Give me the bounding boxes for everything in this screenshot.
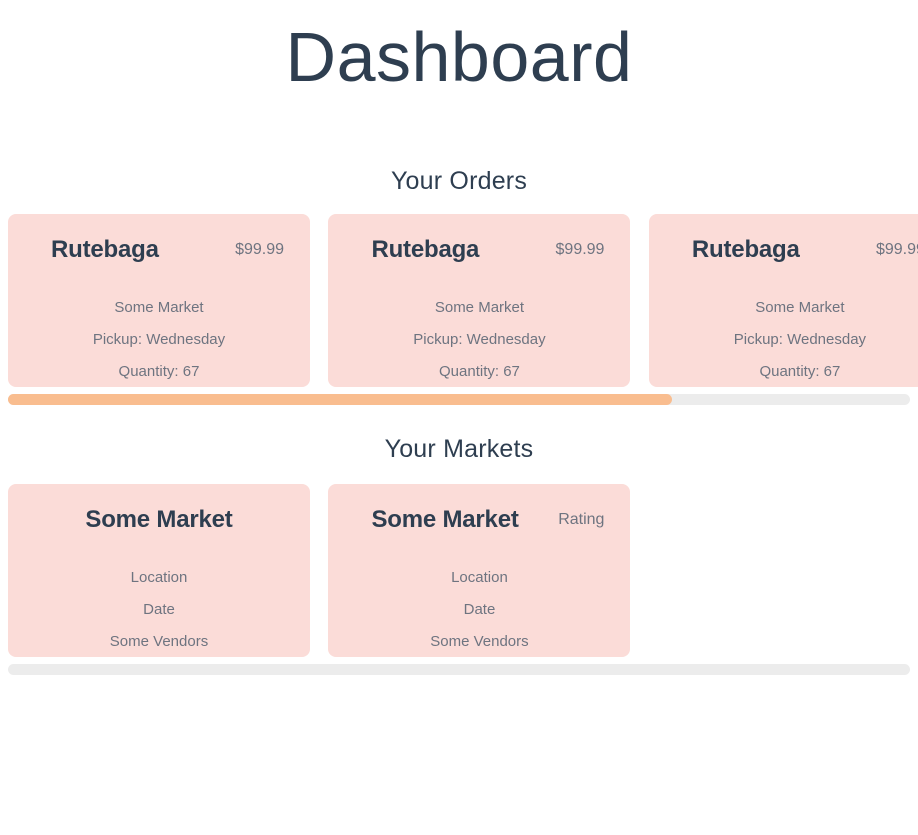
orders-scrollbar-thumb[interactable] [8, 394, 672, 405]
orders-card-row[interactable]: Rutebaga $99.99 Some Market Pickup: Wedn… [8, 214, 918, 387]
order-market: Some Market [649, 292, 918, 324]
market-rating: Rating [558, 511, 604, 529]
market-details: Location Date Some Vendors [328, 562, 630, 657]
markets-scrollbar-track[interactable] [8, 664, 910, 675]
order-pickup: Pickup: Wednesday [328, 324, 630, 356]
order-quantity: Quantity: 67 [8, 356, 310, 387]
markets-card-row[interactable]: Some Market Location Date Some Vendors S… [8, 484, 918, 657]
order-card-header: Rutebaga $99.99 [649, 233, 918, 267]
market-location: Location [328, 562, 630, 594]
dashboard-page: Dashboard Your Orders Rutebaga $99.99 So… [0, 0, 918, 835]
order-details: Some Market Pickup: Wednesday Quantity: … [649, 292, 918, 387]
order-details: Some Market Pickup: Wednesday Quantity: … [328, 292, 630, 387]
order-price: $99.99 [556, 241, 605, 259]
market-card[interactable]: Some Market Rating Location Date Some Ve… [328, 484, 630, 657]
market-location: Location [8, 562, 310, 594]
order-market: Some Market [328, 292, 630, 324]
order-card[interactable]: Rutebaga $99.99 Some Market Pickup: Wedn… [328, 214, 630, 387]
orders-scrollbar-track[interactable] [8, 394, 910, 405]
market-vendors: Some Vendors [8, 626, 310, 657]
order-details: Some Market Pickup: Wednesday Quantity: … [8, 292, 310, 387]
order-title: Rutebaga [371, 236, 479, 264]
order-title: Rutebaga [692, 236, 800, 264]
market-date: Date [8, 594, 310, 626]
order-quantity: Quantity: 67 [649, 356, 918, 387]
order-pickup: Pickup: Wednesday [649, 324, 918, 356]
market-vendors: Some Vendors [328, 626, 630, 657]
market-card-header: Some Market [8, 503, 310, 537]
order-card-header: Rutebaga $99.99 [328, 233, 630, 267]
order-quantity: Quantity: 67 [328, 356, 630, 387]
order-price: $99.99 [876, 241, 918, 259]
order-price: $99.99 [235, 241, 284, 259]
order-card[interactable]: Rutebaga $99.99 Some Market Pickup: Wedn… [649, 214, 918, 387]
order-title: Rutebaga [51, 236, 159, 264]
market-details: Location Date Some Vendors [8, 562, 310, 657]
market-title: Some Market [85, 506, 232, 534]
market-title: Some Market [371, 506, 518, 534]
order-pickup: Pickup: Wednesday [8, 324, 310, 356]
markets-section-heading: Your Markets [0, 435, 918, 464]
orders-section-heading: Your Orders [0, 167, 918, 196]
market-date: Date [328, 594, 630, 626]
order-card[interactable]: Rutebaga $99.99 Some Market Pickup: Wedn… [8, 214, 310, 387]
page-title: Dashboard [0, 22, 918, 92]
market-card-header: Some Market Rating [328, 503, 630, 537]
market-card[interactable]: Some Market Location Date Some Vendors [8, 484, 310, 657]
order-card-header: Rutebaga $99.99 [8, 233, 310, 267]
order-market: Some Market [8, 292, 310, 324]
